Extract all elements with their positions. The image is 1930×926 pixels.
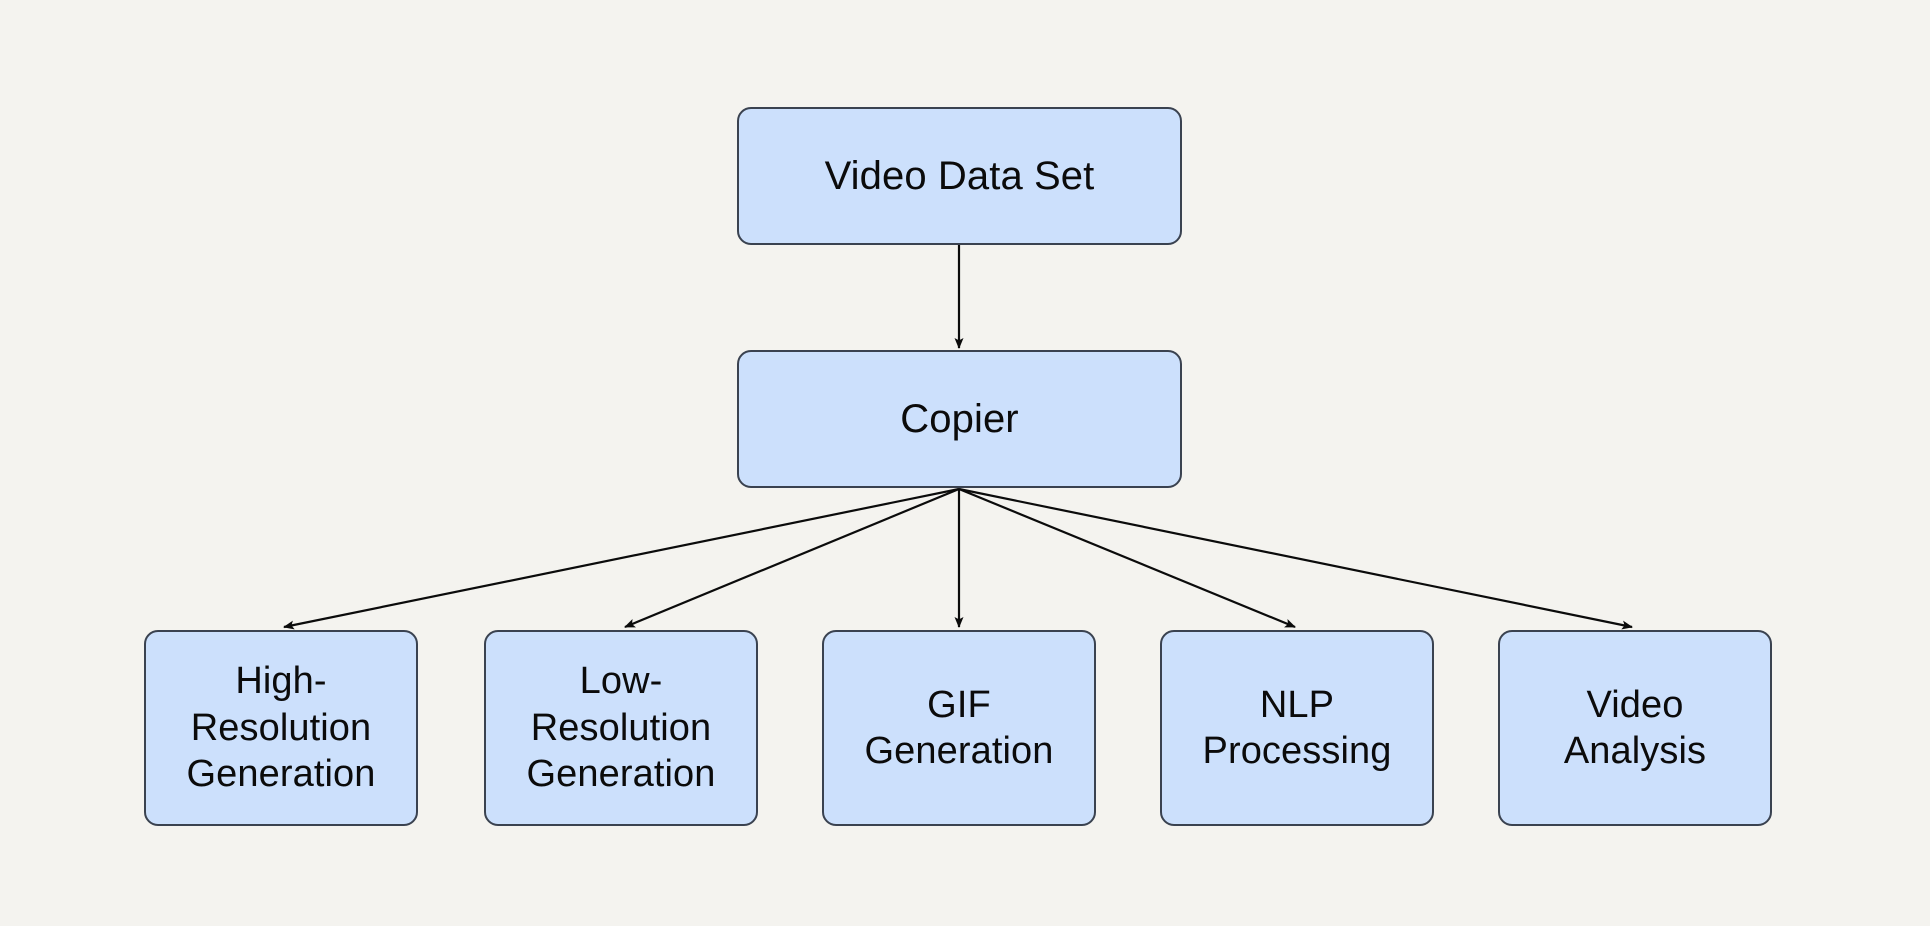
node-video-analysis[interactable]: Video Analysis xyxy=(1498,630,1772,826)
node-label: High- Resolution Generation xyxy=(186,658,375,797)
node-label: Video Analysis xyxy=(1564,682,1706,775)
node-label: Copier xyxy=(900,395,1018,444)
edge-copier-to-video-analysis xyxy=(959,489,1632,627)
node-low-resolution-generation[interactable]: Low- Resolution Generation xyxy=(484,630,758,826)
node-label: GIF Generation xyxy=(864,682,1053,775)
edge-copier-to-low-resolution-generation xyxy=(625,489,959,627)
node-copier[interactable]: Copier xyxy=(737,350,1182,488)
node-high-resolution-generation[interactable]: High- Resolution Generation xyxy=(144,630,418,826)
node-nlp-processing[interactable]: NLP Processing xyxy=(1160,630,1434,826)
edge-copier-to-nlp-processing xyxy=(959,489,1295,627)
node-label: Low- Resolution Generation xyxy=(526,658,715,797)
flowchart-canvas: Video Data Set Copier High- Resolution G… xyxy=(0,0,1930,926)
node-label: NLP Processing xyxy=(1203,682,1392,775)
node-video-data-set[interactable]: Video Data Set xyxy=(737,107,1182,245)
node-gif-generation[interactable]: GIF Generation xyxy=(822,630,1096,826)
node-label: Video Data Set xyxy=(825,152,1095,201)
edge-copier-to-high-resolution-generation xyxy=(284,489,959,627)
